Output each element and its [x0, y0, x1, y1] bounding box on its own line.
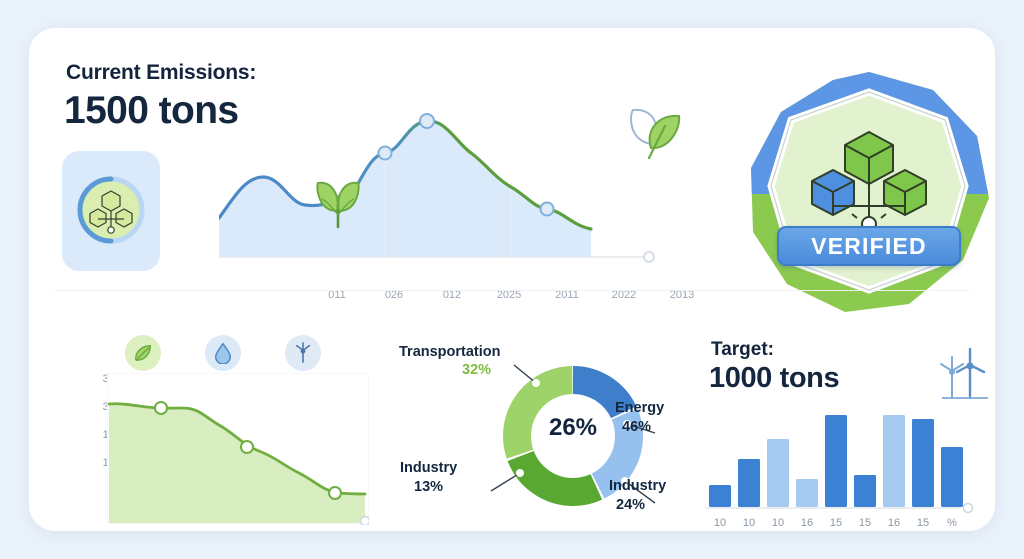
wind-turbine-icon[interactable]	[285, 335, 321, 371]
water-drop-icon[interactable]	[205, 335, 241, 371]
emissions-trend-chart: 011 026 012 2025 2011 2022 2013	[219, 103, 659, 308]
bar-xtick-2: 10	[764, 517, 792, 529]
donut-label-industry-24: Industry	[609, 478, 666, 494]
bar-1[interactable]	[738, 459, 760, 507]
donut-percent-industry-13: 13%	[414, 479, 443, 495]
emissions-breakdown-chart: 26% Transportation 32% Energy 46% Indust…	[387, 338, 697, 531]
emissions-trend-svg	[219, 103, 659, 308]
bar-7[interactable]	[912, 419, 934, 507]
leaf-pair-icon	[619, 102, 691, 172]
bar-xtick-6: 16	[880, 517, 908, 529]
bar-4[interactable]	[825, 415, 847, 507]
reduction-progress-chart: 300 300 150 140 20 0	[59, 373, 369, 525]
bar-6[interactable]	[883, 415, 905, 507]
blockchain-badge-tile[interactable]	[62, 151, 160, 271]
dashboard-root: Current Emissions: 1500 tons	[0, 0, 1024, 559]
bar-end-handle[interactable]	[964, 504, 973, 513]
bar-2[interactable]	[767, 439, 789, 507]
reduction-end-handle[interactable]	[361, 517, 370, 526]
donut-center-value: 26%	[533, 414, 613, 442]
bar-xtick-8: %	[938, 517, 966, 529]
wind-turbine-icon	[932, 346, 994, 408]
bar-xtick-0: 10	[706, 517, 734, 529]
target-bar-chart: 10 10 10 16 15 15 16 15 %	[705, 411, 977, 529]
donut-percent-energy: 46%	[622, 419, 651, 435]
trend-end-handle[interactable]	[644, 252, 654, 262]
bar-axis	[705, 503, 977, 513]
turbine-glyph	[292, 342, 314, 364]
bar-xtick-4: 15	[822, 517, 850, 529]
leaf-glyph	[132, 342, 154, 364]
leaf-sprout-icon	[306, 171, 370, 231]
blockchain-cubes-icon	[74, 172, 148, 248]
donut-label-energy: Energy	[615, 400, 664, 416]
donut-percent-industry-24: 24%	[616, 497, 645, 513]
trend-area-fill	[219, 121, 591, 257]
current-emissions-value: 1500 tons	[64, 89, 239, 133]
target-label: Target:	[711, 339, 774, 361]
verified-ribbon: VERIFIED	[777, 226, 961, 266]
section-divider	[54, 290, 970, 291]
bar-8[interactable]	[941, 447, 963, 507]
donut-label-industry-13: Industry	[400, 460, 457, 476]
drop-glyph	[213, 342, 233, 364]
bar-xtick-1: 10	[735, 517, 763, 529]
reduction-area-svg	[107, 373, 369, 525]
donut-percent-transportation: 32%	[462, 362, 491, 378]
verified-badge[interactable]: VERIFIED	[737, 66, 995, 322]
target-value: 1000 tons	[709, 362, 839, 395]
donut-label-transportation: Transportation	[399, 344, 501, 360]
verified-badge-svg	[737, 66, 995, 322]
dashboard-card: Current Emissions: 1500 tons	[29, 28, 995, 531]
verified-ribbon-label: VERIFIED	[811, 233, 927, 260]
current-emissions-label: Current Emissions:	[66, 61, 256, 85]
bar-xtick-3: 16	[793, 517, 821, 529]
leaf-icon[interactable]	[125, 335, 161, 371]
bar-xtick-5: 15	[851, 517, 879, 529]
bar-xtick-7: 15	[909, 517, 937, 529]
